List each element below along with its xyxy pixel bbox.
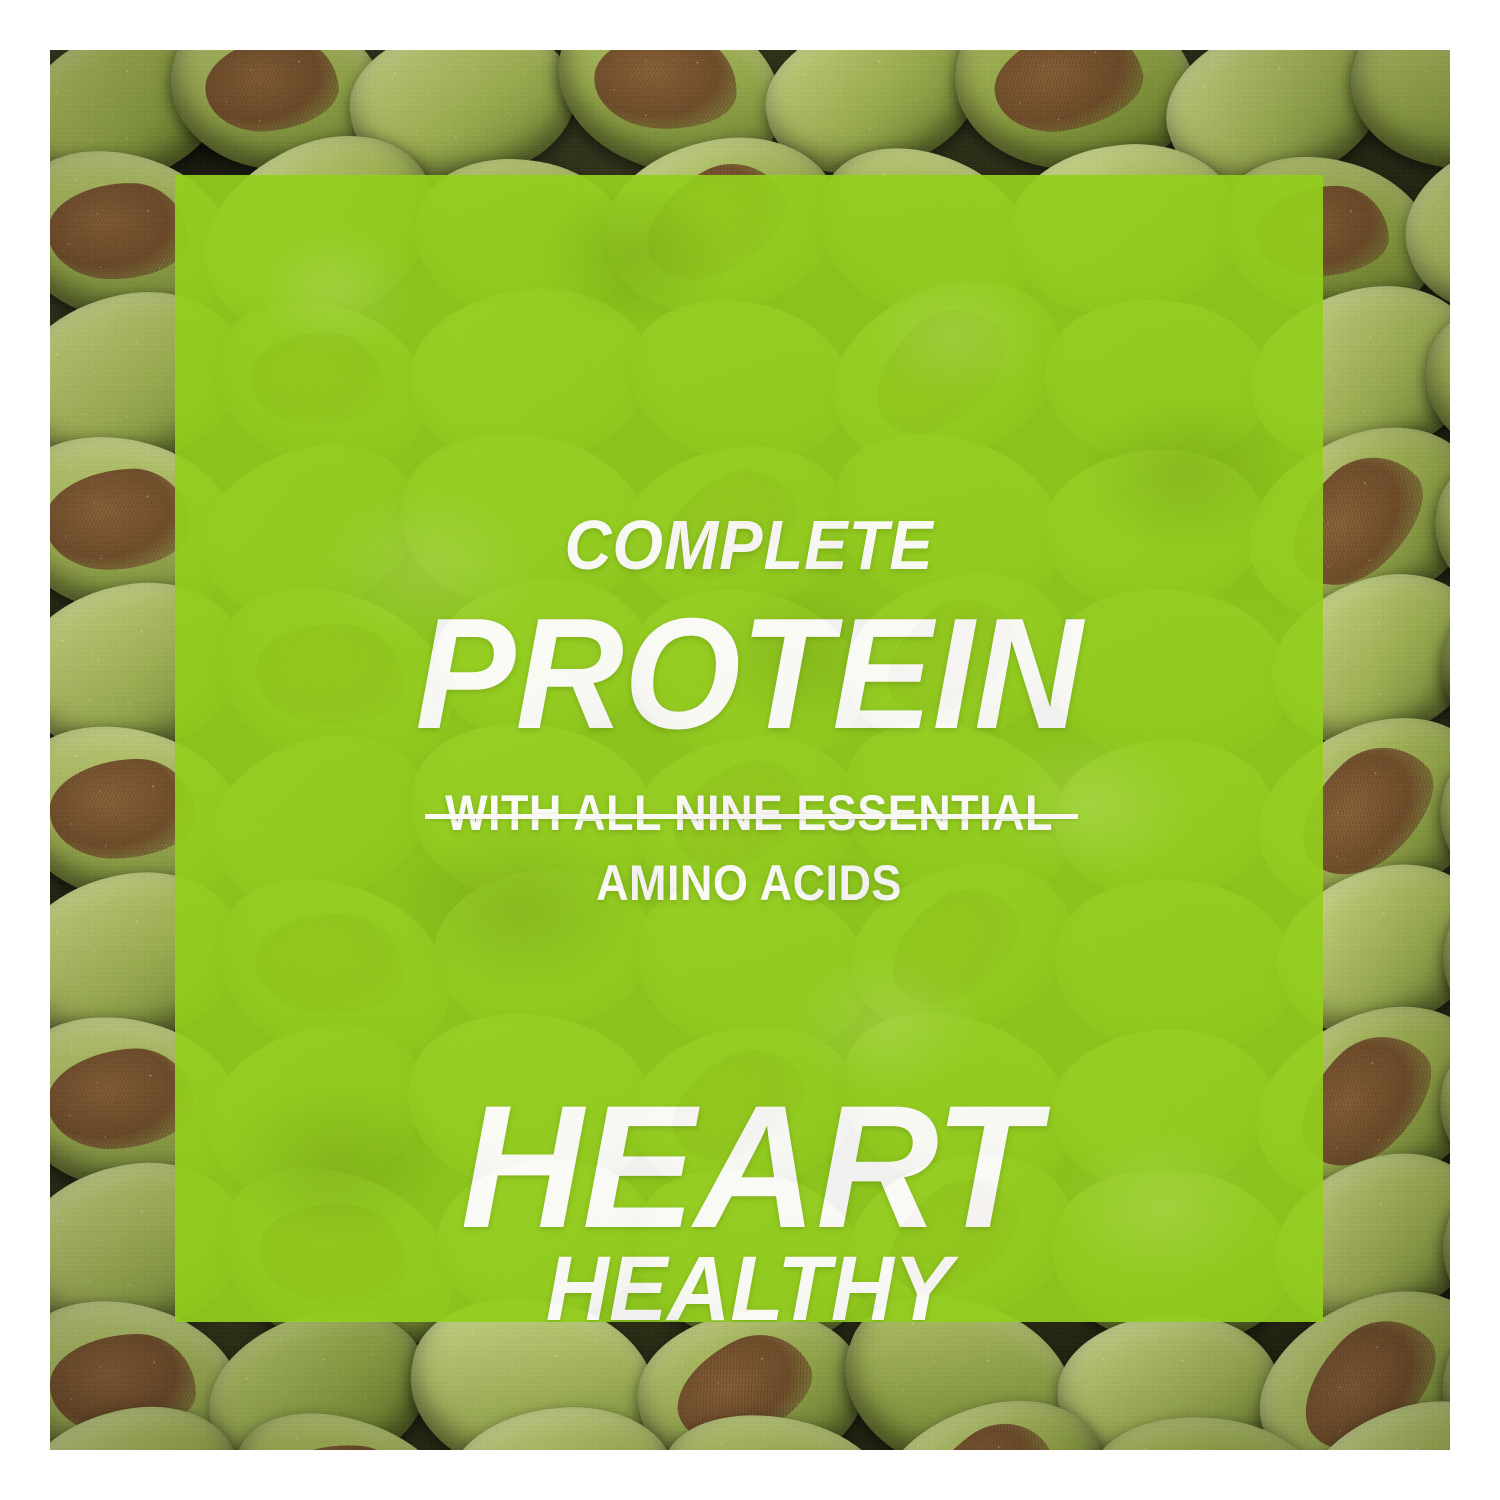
panel-content: COMPLETE PROTEIN WITH ALL NINE ESSENTIAL… bbox=[175, 175, 1323, 1322]
subhead-line-1: WITH ALL NINE ESSENTIAL bbox=[232, 788, 1265, 838]
green-message-panel: COMPLETE PROTEIN WITH ALL NINE ESSENTIAL… bbox=[175, 175, 1323, 1322]
product-callout-canvas: COMPLETE PROTEIN WITH ALL NINE ESSENTIAL… bbox=[0, 0, 1500, 1500]
claim-line-2: HEALTHY bbox=[204, 1243, 1295, 1322]
claim-line-1: HEART bbox=[192, 1080, 1306, 1255]
section-divider bbox=[425, 814, 1078, 819]
subhead-line-2: AMINO ACIDS bbox=[232, 858, 1265, 908]
headline-eyebrow: COMPLETE bbox=[215, 510, 1283, 580]
headline-main: PROTEIN bbox=[204, 595, 1295, 753]
